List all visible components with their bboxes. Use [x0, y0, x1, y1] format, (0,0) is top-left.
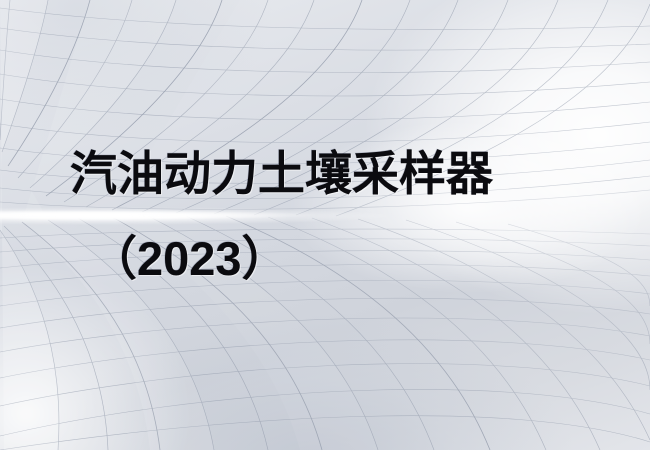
title-text-block: 汽油动力土壤采样器 （2023）	[0, 0, 650, 450]
slide-title-primary: 汽油动力土壤采样器	[70, 150, 493, 197]
slide-title-year: （2023）	[90, 235, 289, 282]
title-slide: 汽油动力土壤采样器 （2023）	[0, 0, 650, 450]
